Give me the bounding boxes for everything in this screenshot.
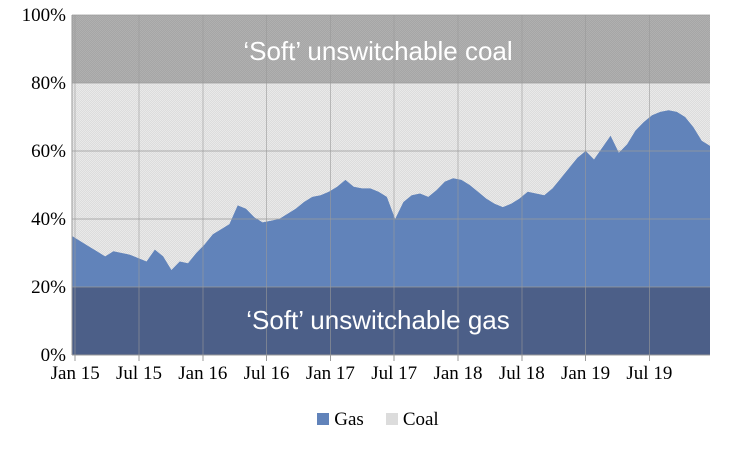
x-axis-tick-label: Jan 16 (178, 364, 227, 384)
x-axis-tick-label: Jan 17 (306, 364, 355, 384)
x-axis-tick-label: Jan 19 (561, 364, 610, 384)
plot-area (0, 0, 756, 454)
stacked-area-chart: 100%80%60%40%20%0% Jan 15Jul 15Jan 16Jul… (0, 0, 756, 454)
legend-item-coal[interactable]: Coal (386, 409, 439, 431)
x-axis-tick-label: Jul 18 (499, 364, 545, 384)
legend-item-gas[interactable]: Gas (317, 409, 364, 431)
x-axis-tick-label: Jan 18 (433, 364, 482, 384)
x-axis-tick-label: Jul 17 (371, 364, 417, 384)
x-axis-tick-label: Jul 16 (244, 364, 290, 384)
x-axis-tick-label: Jul 15 (116, 364, 162, 384)
legend-label-gas: Gas (334, 409, 364, 431)
legend-label-coal: Coal (403, 409, 439, 431)
soft-unswitchable-coal-label: ‘Soft’ unswitchable coal (0, 36, 756, 67)
soft-unswitchable-gas-label: ‘Soft’ unswitchable gas (0, 305, 756, 336)
x-axis-tick-label: Jul 19 (626, 364, 672, 384)
legend-swatch-coal-icon (386, 413, 398, 425)
legend-swatch-gas-icon (317, 413, 329, 425)
x-axis-tick-label: Jan 15 (51, 364, 100, 384)
chart-legend: Gas Coal (0, 409, 756, 431)
